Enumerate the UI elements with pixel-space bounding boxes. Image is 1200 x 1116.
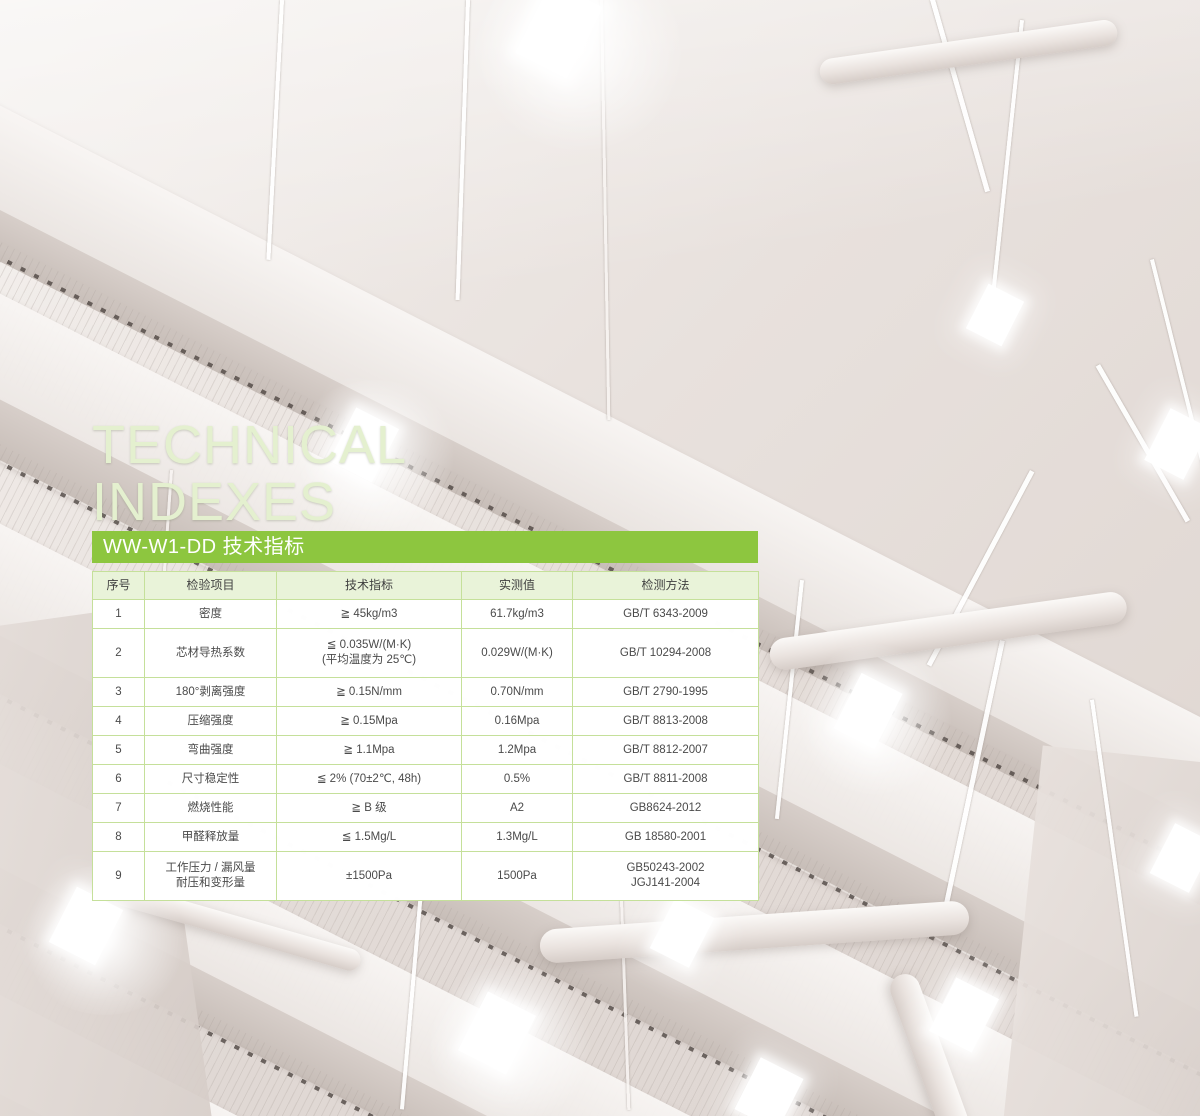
table-row: 5 弯曲强度 ≧ 1.1Mpa 1.2Mpa GB/T 8812-2007 bbox=[93, 736, 759, 765]
cell-spec: ≧ 1.1Mpa bbox=[277, 736, 462, 765]
cell-method-line2: JGJ141-2004 bbox=[575, 876, 756, 891]
column-header-method: 检测方法 bbox=[573, 572, 759, 600]
technical-index-table-wrapper: 序号 检验项目 技术指标 实测值 检测方法 1 密度 ≧ 45kg/m3 61.… bbox=[92, 571, 758, 901]
cell-spec: ≦ 2% (70±2℃, 48h) bbox=[277, 765, 462, 794]
cell-item: 密度 bbox=[145, 600, 277, 629]
cell-method: GB/T 2790-1995 bbox=[573, 678, 759, 707]
cell-spec-line1: ≦ 0.035W/(M·K) bbox=[279, 638, 459, 653]
cell-spec: ≧ 45kg/m3 bbox=[277, 600, 462, 629]
cell-no: 4 bbox=[93, 707, 145, 736]
table-row: 4 压缩强度 ≧ 0.15Mpa 0.16Mpa GB/T 8813-2008 bbox=[93, 707, 759, 736]
cell-item-line2: 耐压和变形量 bbox=[147, 876, 274, 891]
page-root: TECHNICAL INDEXES WW-W1-DD 技术指标 序号 检验项目 … bbox=[0, 0, 1200, 1116]
cell-item: 芯材导热系数 bbox=[145, 629, 277, 678]
cell-method: GB/T 6343-2009 bbox=[573, 600, 759, 629]
column-header-spec: 技术指标 bbox=[277, 572, 462, 600]
cell-measured: 61.7kg/m3 bbox=[462, 600, 573, 629]
table-row: 9 工作压力 / 漏风量 耐压和变形量 ±1500Pa 1500Pa GB502… bbox=[93, 852, 759, 901]
cell-item-line1: 工作压力 / 漏风量 bbox=[147, 861, 274, 876]
table-row: 6 尺寸稳定性 ≦ 2% (70±2℃, 48h) 0.5% GB/T 8811… bbox=[93, 765, 759, 794]
cell-measured: 0.5% bbox=[462, 765, 573, 794]
section-title-bar: WW-W1-DD 技术指标 bbox=[92, 531, 758, 563]
table-header-row: 序号 检验项目 技术指标 实测值 检测方法 bbox=[93, 572, 759, 600]
cell-method: GB/T 10294-2008 bbox=[573, 629, 759, 678]
content-overlay: TECHNICAL INDEXES WW-W1-DD 技术指标 序号 检验项目 … bbox=[0, 0, 1200, 1116]
cell-no: 2 bbox=[93, 629, 145, 678]
cell-item: 甲醛释放量 bbox=[145, 823, 277, 852]
cell-no: 8 bbox=[93, 823, 145, 852]
cell-method: GB 18580-2001 bbox=[573, 823, 759, 852]
cell-spec: ≧ B 级 bbox=[277, 794, 462, 823]
cell-measured: 1500Pa bbox=[462, 852, 573, 901]
cell-no: 1 bbox=[93, 600, 145, 629]
column-header-no: 序号 bbox=[93, 572, 145, 600]
column-header-measured: 实测值 bbox=[462, 572, 573, 600]
cell-measured: A2 bbox=[462, 794, 573, 823]
cell-method: GB/T 8813-2008 bbox=[573, 707, 759, 736]
cell-spec-line2: (平均温度为 25℃) bbox=[279, 653, 459, 668]
cell-measured: 0.029W/(M·K) bbox=[462, 629, 573, 678]
cell-no: 9 bbox=[93, 852, 145, 901]
cell-method: GB50243-2002 JGJ141-2004 bbox=[573, 852, 759, 901]
cell-method: GB8624-2012 bbox=[573, 794, 759, 823]
cell-item: 压缩强度 bbox=[145, 707, 277, 736]
section-title-text: WW-W1-DD 技术指标 bbox=[92, 537, 305, 557]
cell-method-line1: GB50243-2002 bbox=[575, 861, 756, 876]
page-title: TECHNICAL INDEXES bbox=[92, 417, 792, 531]
cell-spec: ≦ 0.035W/(M·K) (平均温度为 25℃) bbox=[277, 629, 462, 678]
cell-item: 弯曲强度 bbox=[145, 736, 277, 765]
cell-item: 工作压力 / 漏风量 耐压和变形量 bbox=[145, 852, 277, 901]
technical-index-table: 序号 检验项目 技术指标 实测值 检测方法 1 密度 ≧ 45kg/m3 61.… bbox=[92, 571, 759, 901]
cell-item: 180°剥离强度 bbox=[145, 678, 277, 707]
cell-measured: 0.70N/mm bbox=[462, 678, 573, 707]
cell-item: 尺寸稳定性 bbox=[145, 765, 277, 794]
cell-measured: 0.16Mpa bbox=[462, 707, 573, 736]
column-header-item: 检验项目 bbox=[145, 572, 277, 600]
table-row: 1 密度 ≧ 45kg/m3 61.7kg/m3 GB/T 6343-2009 bbox=[93, 600, 759, 629]
cell-measured: 1.3Mg/L bbox=[462, 823, 573, 852]
cell-measured: 1.2Mpa bbox=[462, 736, 573, 765]
table-row: 2 芯材导热系数 ≦ 0.035W/(M·K) (平均温度为 25℃) 0.02… bbox=[93, 629, 759, 678]
table-row: 8 甲醛释放量 ≦ 1.5Mg/L 1.3Mg/L GB 18580-2001 bbox=[93, 823, 759, 852]
cell-no: 3 bbox=[93, 678, 145, 707]
cell-method: GB/T 8811-2008 bbox=[573, 765, 759, 794]
cell-no: 6 bbox=[93, 765, 145, 794]
cell-item: 燃烧性能 bbox=[145, 794, 277, 823]
cell-method: GB/T 8812-2007 bbox=[573, 736, 759, 765]
cell-spec: ±1500Pa bbox=[277, 852, 462, 901]
table-row: 7 燃烧性能 ≧ B 级 A2 GB8624-2012 bbox=[93, 794, 759, 823]
cell-no: 7 bbox=[93, 794, 145, 823]
cell-spec: ≦ 1.5Mg/L bbox=[277, 823, 462, 852]
cell-spec: ≧ 0.15Mpa bbox=[277, 707, 462, 736]
table-row: 3 180°剥离强度 ≧ 0.15N/mm 0.70N/mm GB/T 2790… bbox=[93, 678, 759, 707]
cell-no: 5 bbox=[93, 736, 145, 765]
cell-spec: ≧ 0.15N/mm bbox=[277, 678, 462, 707]
